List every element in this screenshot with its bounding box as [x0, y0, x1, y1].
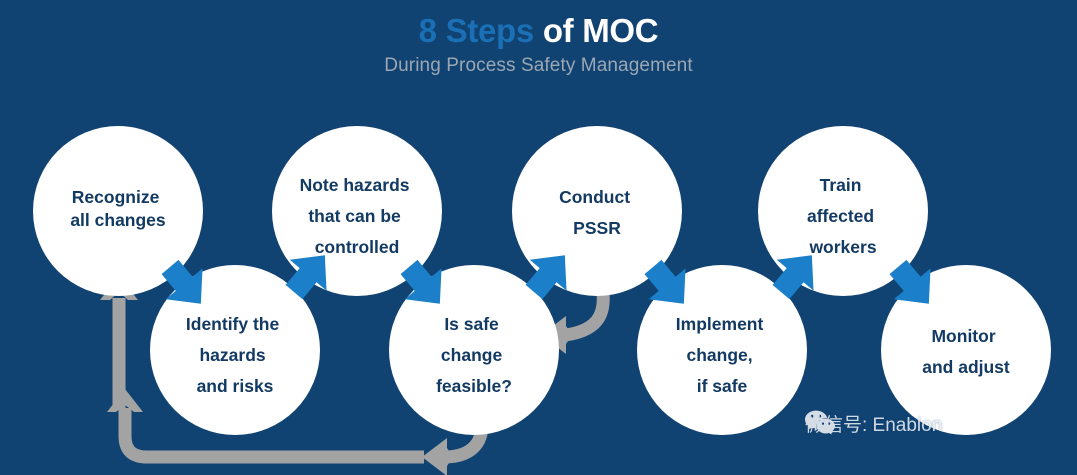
step-label-4: Is safe change feasible?	[436, 314, 512, 396]
watermark: 微信号: Enablon	[805, 410, 942, 437]
step-label-2: Identify the hazards and risks	[186, 314, 284, 396]
infographic-canvas: Recognize all changes Identify the hazar…	[0, 0, 1077, 475]
wechat-icon	[805, 410, 835, 436]
step-label-3: Note hazards that can be controlled	[300, 175, 415, 257]
flow-diagram: Recognize all changes Identify the hazar…	[0, 0, 1077, 475]
